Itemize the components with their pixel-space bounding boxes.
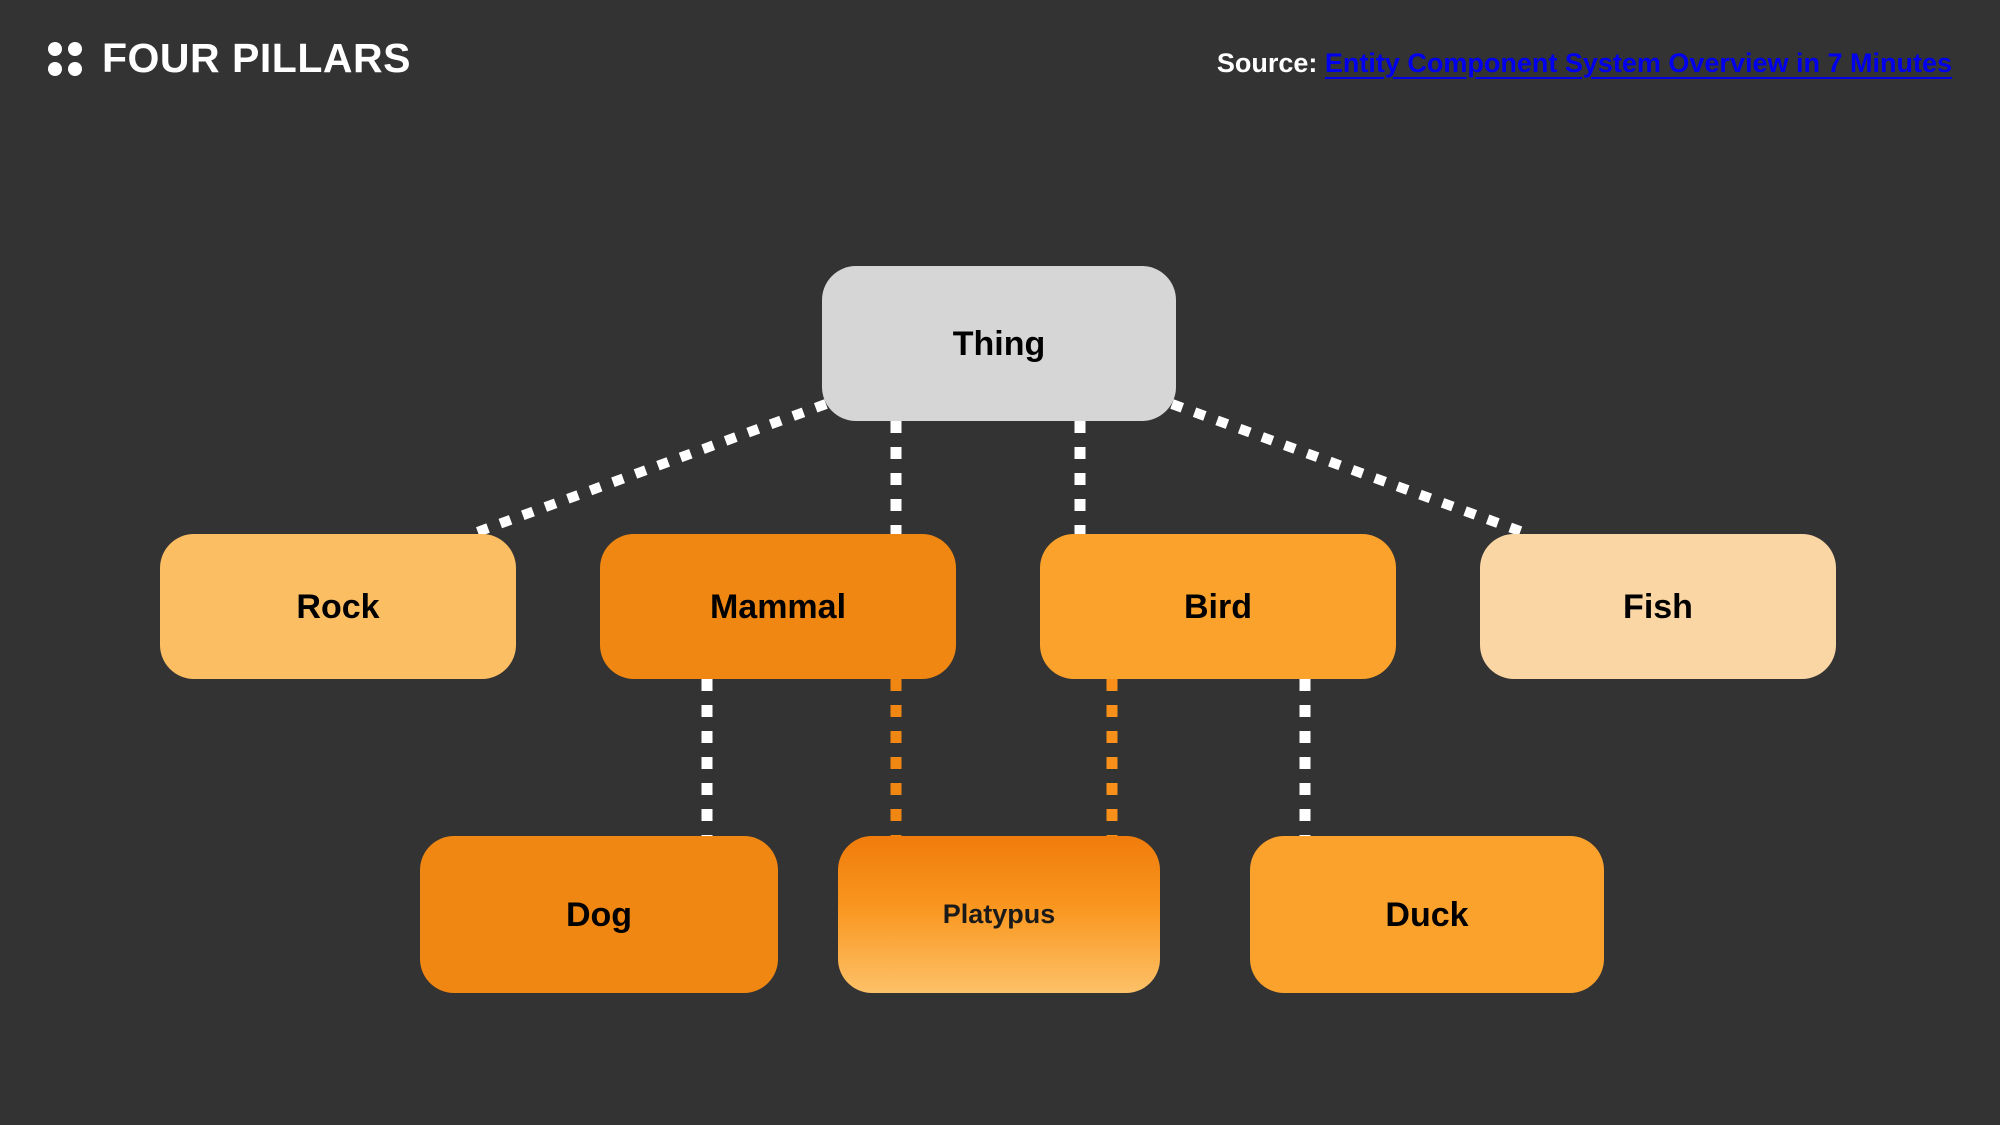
- node-platypus[interactable]: Platypus: [838, 836, 1160, 993]
- node-duck[interactable]: Duck: [1250, 836, 1604, 993]
- inheritance-diagram: Thing Rock Mammal Bird Fish Dog Platypus…: [0, 0, 2000, 1125]
- node-duck-label: Duck: [1385, 898, 1468, 932]
- node-rock[interactable]: Rock: [160, 534, 516, 679]
- node-bird-label: Bird: [1184, 590, 1252, 624]
- node-fish[interactable]: Fish: [1480, 534, 1836, 679]
- node-thing-label: Thing: [953, 327, 1046, 361]
- edge-thing-fish: [1172, 404, 1528, 534]
- node-fish-label: Fish: [1623, 590, 1693, 624]
- node-mammal[interactable]: Mammal: [600, 534, 956, 679]
- node-mammal-label: Mammal: [710, 590, 846, 624]
- node-dog-label: Dog: [566, 898, 632, 932]
- node-bird[interactable]: Bird: [1040, 534, 1396, 679]
- node-thing[interactable]: Thing: [822, 266, 1176, 421]
- node-rock-label: Rock: [296, 590, 379, 624]
- node-platypus-label: Platypus: [943, 901, 1056, 928]
- node-dog[interactable]: Dog: [420, 836, 778, 993]
- edge-thing-rock: [472, 404, 826, 534]
